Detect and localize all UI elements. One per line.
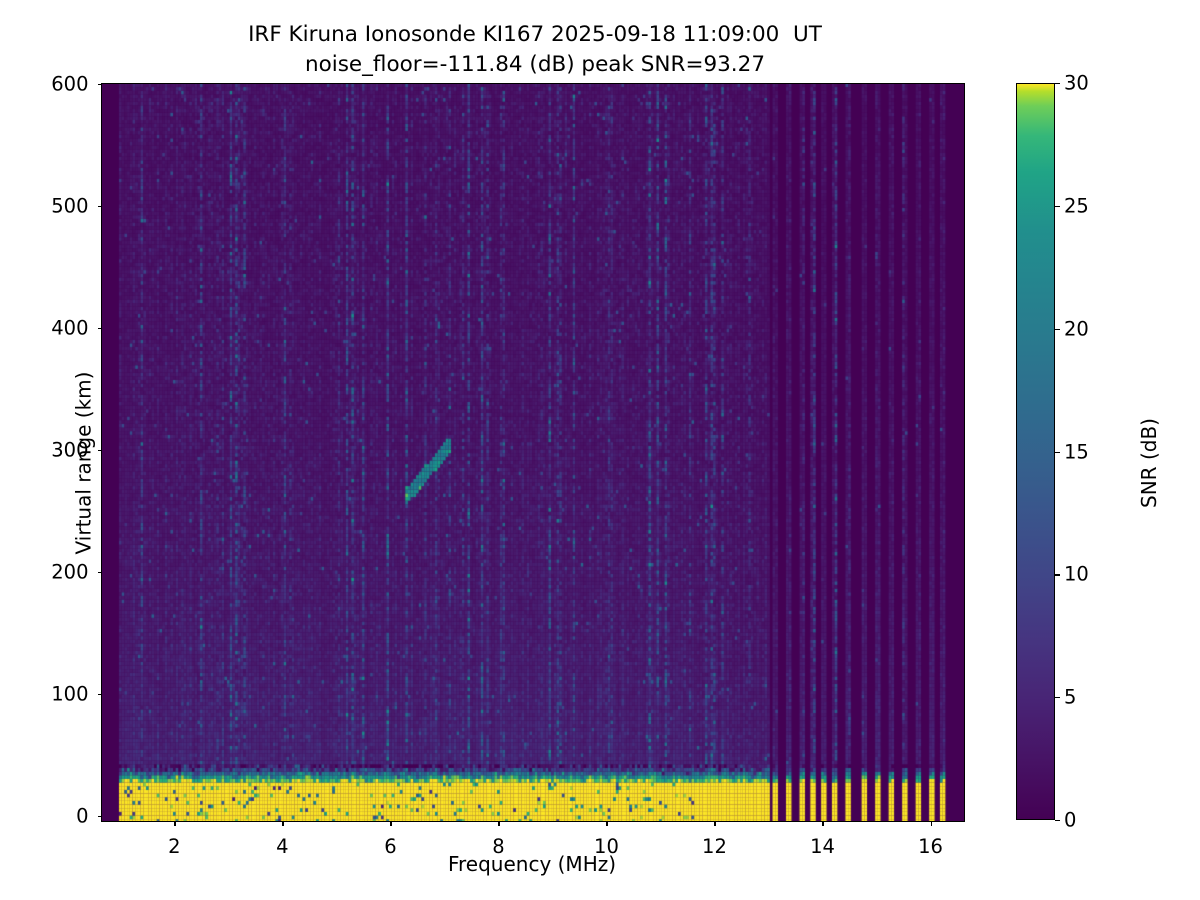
x-tick: 4 xyxy=(282,821,283,826)
x-tick: 16 xyxy=(931,821,932,826)
y-tick: 600 xyxy=(98,84,103,85)
figure-title: IRF Kiruna Ionosonde KI167 2025-09-18 11… xyxy=(0,20,1070,80)
colorbar-tick-label: 10 xyxy=(1064,563,1089,586)
colorbar: 051015202530 xyxy=(1016,83,1055,820)
y-tick-label: 600 xyxy=(51,73,88,96)
y-tick: 400 xyxy=(98,328,103,329)
colorbar-tick-label: 5 xyxy=(1064,686,1076,709)
colorbar-tick xyxy=(1055,574,1060,575)
colorbar-label: SNR (dB) xyxy=(1137,418,1161,508)
colorbar-tick xyxy=(1055,83,1060,84)
plot-axes: 0100200300400500600246810121416 xyxy=(101,83,965,822)
colorbar-tick-label: 0 xyxy=(1064,809,1076,832)
x-axis-label: Frequency (MHz) xyxy=(101,852,963,876)
y-tick-label: 200 xyxy=(51,561,88,584)
colorbar-tick-label: 20 xyxy=(1064,317,1089,340)
y-tick-label: 100 xyxy=(51,683,88,706)
y-tick-label: 500 xyxy=(51,195,88,218)
y-tick: 0 xyxy=(98,816,103,817)
x-tick: 14 xyxy=(822,821,823,826)
y-tick-label: 0 xyxy=(76,805,88,828)
colorbar-tick xyxy=(1055,697,1060,698)
colorbar-tick xyxy=(1055,452,1060,453)
colorbar-tick xyxy=(1055,820,1060,821)
y-tick: 500 xyxy=(98,206,103,207)
y-tick-label: 400 xyxy=(51,317,88,340)
y-tick: 300 xyxy=(98,450,103,451)
colorbar-gradient xyxy=(1016,83,1055,820)
colorbar-tick-label: 25 xyxy=(1064,194,1089,217)
colorbar-tick xyxy=(1055,206,1060,207)
x-tick: 8 xyxy=(498,821,499,826)
colorbar-tick-label: 30 xyxy=(1064,72,1089,95)
title-line-1: IRF Kiruna Ionosonde KI167 2025-09-18 11… xyxy=(0,20,1070,50)
ionogram-heatmap xyxy=(102,84,964,821)
title-line-2: noise_floor=-111.84 (dB) peak SNR=93.27 xyxy=(0,50,1070,80)
colorbar-tick xyxy=(1055,329,1060,330)
y-axis-label: Virtual range (km) xyxy=(71,372,95,555)
colorbar-tick-label: 15 xyxy=(1064,440,1089,463)
ionogram-figure: IRF Kiruna Ionosonde KI167 2025-09-18 11… xyxy=(0,0,1200,900)
x-tick: 6 xyxy=(390,821,391,826)
x-tick: 10 xyxy=(606,821,607,826)
x-tick: 12 xyxy=(714,821,715,826)
y-tick: 100 xyxy=(98,694,103,695)
y-tick: 200 xyxy=(98,572,103,573)
x-tick: 2 xyxy=(174,821,175,826)
